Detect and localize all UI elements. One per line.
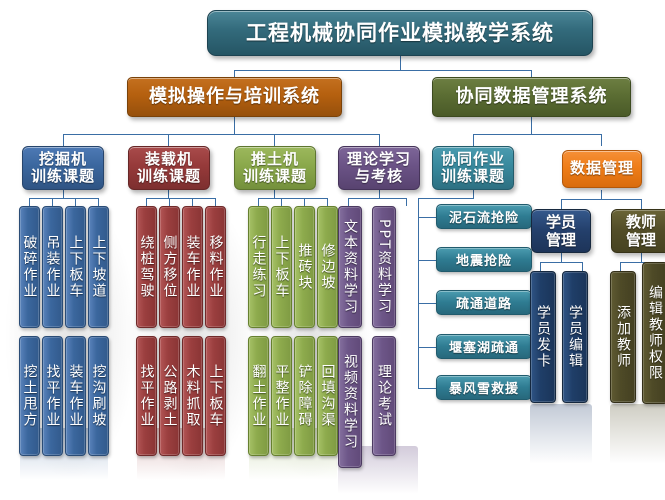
category-loader-node[interactable]: 装载机 训练课题 <box>128 146 210 190</box>
connector-bulldozer-stem <box>274 190 275 198</box>
task-theory-top-2[interactable]: PPT资料学习 <box>372 206 396 328</box>
connector-theory-bus <box>348 198 406 199</box>
connector-student-stem <box>561 253 562 262</box>
task-label: 暴风雪救援 <box>449 378 519 397</box>
task-label: 装车作业 <box>66 364 86 428</box>
task-bulldozer-bottom-2[interactable]: 平整作业 <box>271 336 292 456</box>
connector-student-bus <box>540 262 582 263</box>
connector-excavator-t4 <box>98 198 99 206</box>
category-theory-node[interactable]: 理论学习 与考核 <box>338 146 420 190</box>
connector-excavator-t2 <box>52 198 53 206</box>
task-excavator-bottom-1[interactable]: 挖土甩方 <box>19 336 40 456</box>
connector-mgmt-to-teacher <box>641 199 642 209</box>
connector-root-right <box>531 70 532 77</box>
category-loader-label: 装载机 训练课题 <box>137 151 201 186</box>
task-teacher-1[interactable]: 添加教师 <box>610 271 636 403</box>
connector-sim-to-loader <box>168 134 169 146</box>
reflection-teacher <box>610 404 665 464</box>
connector-data-to-mgmt <box>601 134 602 146</box>
task-collaborative-4[interactable]: 堰塞湖疏通 <box>436 334 532 359</box>
connector-bulldozer-t2 <box>281 198 282 206</box>
connector-sim-to-theory <box>379 134 380 146</box>
connector-data-stem <box>531 117 532 134</box>
connector-sim-stem <box>234 117 235 134</box>
connector-collab-3 <box>418 303 436 304</box>
connector-data-to-collab <box>473 134 474 146</box>
connector-mgmt-to-student <box>561 199 562 209</box>
task-label: 木料抓取 <box>183 364 203 428</box>
connector-collab-top <box>418 198 474 199</box>
category-excavator-node[interactable]: 挖掘机 训练课题 <box>22 146 104 190</box>
task-label: 堰塞湖疏通 <box>449 337 519 356</box>
connector-bulldozer-t4 <box>327 198 328 206</box>
category-data-management-label: 数据管理 <box>570 160 634 177</box>
connector-student-1 <box>540 262 541 271</box>
task-label: 文本资料学习 <box>340 219 360 315</box>
reflection-student <box>530 404 592 464</box>
task-loader-top-4[interactable]: 移料作业 <box>205 206 226 328</box>
connector-loader-stem <box>168 190 169 198</box>
task-label: 编辑教师权限 <box>645 285 665 381</box>
task-bulldozer-bottom-4[interactable]: 回填沟渠 <box>317 336 338 456</box>
task-bulldozer-top-3[interactable]: 推砖块 <box>294 206 315 328</box>
task-teacher-2[interactable]: 编辑教师权限 <box>642 262 665 404</box>
diagram-canvas: 工程机械协同作业模拟教学系统 模拟操作与培训系统 协同数据管理系统 挖掘机 训练… <box>0 0 665 500</box>
connector-excavator-t3 <box>75 198 76 206</box>
student-management-label: 学员 管理 <box>546 213 576 249</box>
task-excavator-bottom-3[interactable]: 装车作业 <box>65 336 86 456</box>
task-label: 添加教师 <box>613 305 633 369</box>
task-collaborative-2[interactable]: 地震抢险 <box>436 247 532 272</box>
task-label: 平整作业 <box>272 364 292 428</box>
category-bulldozer-label: 推土机 训练课题 <box>243 151 307 186</box>
task-label: 侧方移位 <box>160 235 180 299</box>
task-excavator-bottom-4[interactable]: 挖沟刷坡 <box>88 336 109 456</box>
task-student-2[interactable]: 学员编辑 <box>562 271 588 403</box>
task-label: 装车作业 <box>183 235 203 299</box>
task-label: 找平作业 <box>43 364 63 428</box>
task-label: 学员发卡 <box>533 305 553 369</box>
connector-excavator-t1 <box>29 198 30 206</box>
task-label: 行走练习 <box>249 235 269 299</box>
task-label: 疏通道路 <box>456 293 512 312</box>
task-loader-bottom-2[interactable]: 公路剥土 <box>159 336 180 456</box>
task-label: 泥石流抢险 <box>449 207 519 226</box>
connector-root-bus <box>234 70 531 71</box>
task-bulldozer-top-2[interactable]: 上下板车 <box>271 206 292 328</box>
task-excavator-top-2[interactable]: 吊装作业 <box>42 206 63 328</box>
task-label: 绕桩驾驶 <box>137 235 157 299</box>
task-theory-bottom-2[interactable]: 理论考试 <box>372 336 396 456</box>
connector-loader-bus <box>146 198 215 199</box>
task-label: 视频资料学习 <box>340 354 360 450</box>
task-label: 找平作业 <box>137 364 157 428</box>
connector-collab-stem <box>473 190 474 198</box>
task-loader-top-2[interactable]: 侧方移位 <box>159 206 180 328</box>
connector-theory-t2 <box>406 198 407 206</box>
connector-mgmt-stem <box>601 190 602 199</box>
task-excavator-top-4[interactable]: 上下坡道 <box>88 206 109 328</box>
level2-data-label: 协同数据管理系统 <box>456 87 608 108</box>
connector-collab-4 <box>418 347 436 348</box>
task-label: 上下板车 <box>206 364 226 428</box>
task-theory-bottom-1[interactable]: 视频资料学习 <box>338 336 362 468</box>
connector-theory-stem <box>379 190 380 198</box>
root-title-node[interactable]: 工程机械协同作业模拟教学系统 <box>207 10 593 56</box>
level2-simulation-label: 模拟操作与培训系统 <box>149 87 320 108</box>
connector-student-2 <box>582 262 583 271</box>
connector-teacher-1 <box>620 262 621 271</box>
connector-bulldozer-bus <box>258 198 327 199</box>
task-loader-bottom-4[interactable]: 上下板车 <box>205 336 226 456</box>
connector-loader-t2 <box>169 198 170 206</box>
task-label: 回填沟渠 <box>318 364 338 428</box>
task-bulldozer-top-1[interactable]: 行走练习 <box>248 206 269 328</box>
connector-loader-t1 <box>146 198 147 206</box>
task-label: 吊装作业 <box>43 235 63 299</box>
connector-bulldozer-t1 <box>258 198 259 206</box>
connector-collab-1 <box>418 217 436 218</box>
task-label: 推砖块 <box>295 243 315 291</box>
task-label: PPT资料学习 <box>374 219 394 314</box>
task-excavator-bottom-2[interactable]: 找平作业 <box>42 336 63 456</box>
task-label: 破碎作业 <box>20 235 40 299</box>
node-teacher-management[interactable]: 教师 管理 <box>611 209 665 253</box>
connector-sim-to-bulldozer <box>274 134 275 146</box>
task-collaborative-1[interactable]: 泥石流抢险 <box>436 204 532 229</box>
connector-theory-t1 <box>348 198 349 206</box>
task-label: 理论考试 <box>374 364 394 428</box>
connector-sim-bus <box>63 134 379 135</box>
connector-data-bus <box>473 134 601 135</box>
category-collaborative-label: 协同作业 训练课题 <box>441 151 505 186</box>
connector-excavator-bus <box>29 198 98 199</box>
connector-loader-t3 <box>192 198 193 206</box>
level2-data-node[interactable]: 协同数据管理系统 <box>432 77 631 117</box>
connector-excavator-stem <box>63 190 64 198</box>
category-theory-label: 理论学习 与考核 <box>347 151 411 186</box>
task-bulldozer-top-4[interactable]: 修边坡 <box>317 206 338 328</box>
node-student-management[interactable]: 学员 管理 <box>531 209 591 253</box>
level2-simulation-node[interactable]: 模拟操作与培训系统 <box>127 77 342 117</box>
category-collaborative-node[interactable]: 协同作业 训练课题 <box>432 146 514 190</box>
task-label: 修边坡 <box>318 243 338 291</box>
task-bulldozer-bottom-1[interactable]: 翻土作业 <box>248 336 269 456</box>
task-loader-top-3[interactable]: 装车作业 <box>182 206 203 328</box>
task-loader-bottom-1[interactable]: 找平作业 <box>136 336 157 456</box>
task-label: 翻土作业 <box>249 364 269 428</box>
task-label: 上下坡道 <box>89 235 109 299</box>
task-student-1[interactable]: 学员发卡 <box>530 271 556 403</box>
task-collaborative-3[interactable]: 疏通道路 <box>436 290 532 315</box>
root-title-label: 工程机械协同作业模拟教学系统 <box>246 21 554 45</box>
connector-collab-5 <box>418 388 436 389</box>
category-bulldozer-node[interactable]: 推土机 训练课题 <box>234 146 316 190</box>
category-excavator-label: 挖掘机 训练课题 <box>31 151 95 186</box>
connector-root-stem <box>400 56 401 70</box>
task-loader-top-1[interactable]: 绕桩驾驶 <box>136 206 157 328</box>
task-label: 铲除障碍 <box>295 364 315 428</box>
connector-sim-to-excavator <box>63 134 64 146</box>
task-label: 上下板车 <box>272 235 292 299</box>
connector-mgmt-bus <box>561 199 641 200</box>
task-label: 挖沟刷坡 <box>89 364 109 428</box>
connector-collab-2 <box>418 260 436 261</box>
task-theory-top-1[interactable]: 文本资料学习 <box>338 206 362 328</box>
connector-collab-spine <box>418 198 419 388</box>
teacher-management-label: 教师 管理 <box>626 213 656 249</box>
task-excavator-top-3[interactable]: 上下板车 <box>65 206 86 328</box>
task-excavator-top-1[interactable]: 破碎作业 <box>19 206 40 328</box>
task-label: 公路剥土 <box>160 364 180 428</box>
connector-loader-t4 <box>215 198 216 206</box>
connector-bulldozer-t3 <box>304 198 305 206</box>
task-label: 学员编辑 <box>565 305 585 369</box>
task-label: 挖土甩方 <box>20 364 40 428</box>
task-loader-bottom-3[interactable]: 木料抓取 <box>182 336 203 456</box>
task-label: 上下板车 <box>66 235 86 299</box>
connector-teacher-stem <box>641 253 642 262</box>
task-bulldozer-bottom-3[interactable]: 铲除障碍 <box>294 336 315 456</box>
connector-root-left <box>234 70 235 77</box>
task-collaborative-5[interactable]: 暴风雪救援 <box>436 375 532 400</box>
task-label: 移料作业 <box>206 235 226 299</box>
task-label: 地震抢险 <box>456 250 512 269</box>
category-data-management-node[interactable]: 数据管理 <box>562 150 642 188</box>
